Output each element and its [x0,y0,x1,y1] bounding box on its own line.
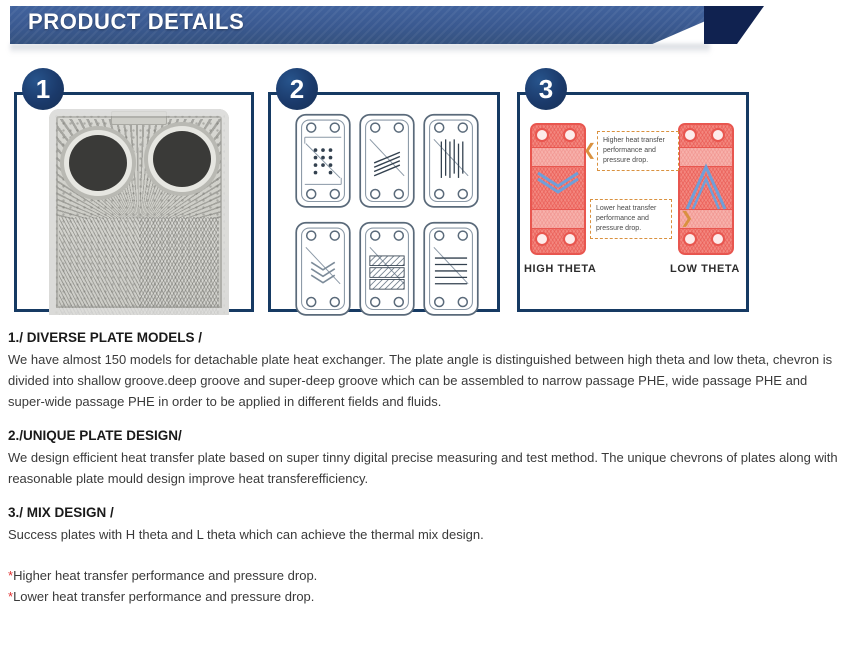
low-theta-chevron-mark [678,157,734,213]
theta-comparison-panel: ❮ ❯ Higher heat transfer performance and… [517,92,749,312]
low-theta-callout: Lower heat transfer performance and pres… [590,199,672,239]
plate-model-vertical-grooves [421,109,481,213]
plate-model-diagonal-icon [357,109,417,213]
plate-model-vertical-icon [421,109,481,213]
panel-badge-2: 2 [276,68,318,110]
low-theta-port-bottom-left [683,232,697,246]
low-theta-plate [678,123,734,255]
panel-badge-1: 1 [22,68,64,110]
plate-model-deep-groove-icon [357,217,417,321]
low-theta-pointer-icon: ❯ [680,211,693,227]
plate-models-panel [268,92,500,312]
plate-model-grid [293,109,481,303]
high-theta-plate [530,123,586,255]
low-theta-port-top-left [683,128,697,142]
high-theta-chevron-mark [530,169,586,195]
section-2-heading: 2./UNIQUE PLATE DESIGN/ [8,428,840,443]
high-theta-port-bottom-right [563,232,577,246]
high-theta-port-top-left [535,128,549,142]
panel-badge-3: 3 [525,68,567,110]
plate-model-chevron [293,217,353,321]
plate-model-dimple [293,109,353,213]
banner-drop-shadow [10,44,710,54]
footnote-lower-text: Lower heat transfer performance and pres… [13,589,314,604]
low-theta-port-top-right [711,128,725,142]
high-theta-label: HIGH THETA [524,263,596,275]
page-title: PRODUCT DETAILS [28,9,244,35]
section-3-body: Success plates with H theta and L theta … [8,524,840,545]
footnote-higher-text: Higher heat transfer performance and pre… [13,568,317,583]
high-theta-port-bottom-left [535,232,549,246]
plate-model-chevron-icon [293,217,353,321]
plate-model-dimple-icon [293,109,353,213]
product-description: 1./ DIVERSE PLATE MODELS / We have almos… [8,330,840,607]
heat-exchanger-plate-photo [49,109,229,315]
low-theta-port-bottom-right [711,232,725,246]
product-details-banner: PRODUCT DETAILS [0,0,848,56]
plate-model-horizontal-icon [421,217,481,321]
section-1-heading: 1./ DIVERSE PLATE MODELS / [8,330,840,345]
high-theta-band-top [532,147,584,167]
section-3-heading: 3./ MIX DESIGN / [8,505,840,520]
high-theta-callout: Higher heat transfer performance and pre… [597,131,679,171]
footnote-lower: *Lower heat transfer performance and pre… [8,586,840,607]
high-theta-pointer-icon: ❮ [583,143,596,159]
plate-photo-panel [14,92,254,312]
footnotes: *Higher heat transfer performance and pr… [8,565,840,607]
high-theta-port-top-right [563,128,577,142]
low-theta-label: LOW THETA [670,263,740,275]
section-mix-design: 3./ MIX DESIGN / Success plates with H t… [8,505,840,545]
section-1-body: We have almost 150 models for detachable… [8,349,840,412]
section-unique-plate-design: 2./UNIQUE PLATE DESIGN/ We design effici… [8,428,840,489]
high-theta-band-bottom [532,209,584,229]
footnote-higher: *Higher heat transfer performance and pr… [8,565,840,586]
plate-model-horizontal-grooves [421,217,481,321]
banner-arrow-tip [704,6,764,44]
plate-model-deep-groove [357,217,417,321]
section-2-body: We design efficient heat transfer plate … [8,447,840,489]
section-diverse-plate-models: 1./ DIVERSE PLATE MODELS / We have almos… [8,330,840,412]
plate-model-diagonal-grooves [357,109,417,213]
plate-gasket-rim [49,109,229,315]
